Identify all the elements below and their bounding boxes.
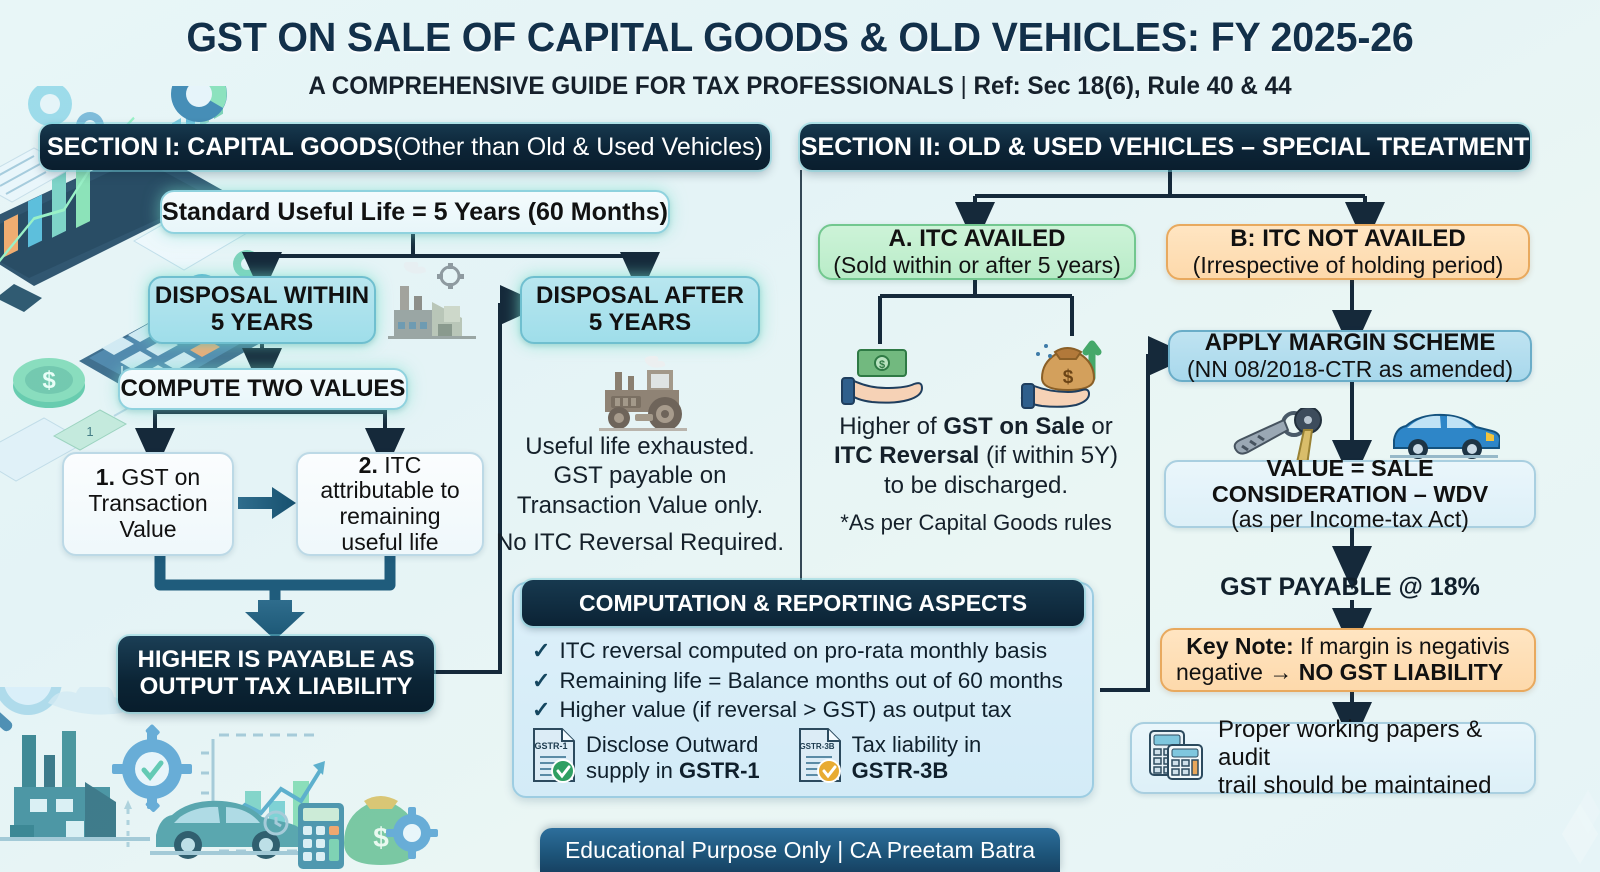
bullet-text: Higher value (if reversal > GST) as outp… — [559, 695, 1011, 724]
value-1-text: 1. GST on Transaction Value — [74, 465, 222, 542]
gstr3b-badge-text: GSTR-3B — [799, 742, 834, 751]
page-subtitle-reference: Ref: Sec 18(6), Rule 40 & 44 — [974, 72, 1292, 100]
branch-a-line2: (Sold within or after 5 years) — [833, 253, 1121, 279]
disposal-within-5-years-box: DISPOSAL WITHIN 5 YEARS — [148, 276, 376, 344]
branch-a-itc-availed-box: A. ITC AVAILED (Sold within or after 5 y… — [818, 224, 1136, 280]
gstr1-line-1: Disclose Outward — [586, 732, 760, 757]
gstr1-line-2-prefix: supply in — [586, 758, 679, 783]
blue-car-icon — [1390, 410, 1500, 460]
apply-margin-scheme-line2: (NN 08/2018-CTR as amended) — [1187, 357, 1513, 383]
branch-b-line1: B: ITC NOT AVAILED — [1230, 226, 1466, 253]
gstr-document-icon: GSTR-3B — [798, 727, 842, 788]
itc-availed-note: *As per Capital Goods rules — [826, 510, 1126, 537]
calculator-icon — [1148, 729, 1206, 788]
section-2-banner: SECTION II: OLD & USED VEHICLES – SPECIA… — [800, 124, 1530, 170]
page-subtitle-separator: | — [954, 72, 974, 100]
apply-margin-scheme-line1: APPLY MARGIN SCHEME — [1205, 330, 1496, 357]
computation-reporting-heading-text: COMPUTATION & REPORTING ASPECTS — [579, 590, 1027, 617]
key-note-text-2: negative → — [1176, 659, 1299, 685]
apply-margin-scheme-box: APPLY MARGIN SCHEME (NN 08/2018-CTR as a… — [1168, 330, 1532, 382]
itc-availed-mid: or — [1085, 413, 1113, 440]
branch-b-itc-not-availed-box: B: ITC NOT AVAILED (Irrespective of hold… — [1166, 224, 1530, 280]
car-icon — [150, 801, 310, 859]
tractor-icon — [595, 356, 691, 436]
money-bag-growth-icon: $ — [1020, 340, 1116, 410]
disposal-within-line2: 5 YEARS — [211, 310, 313, 337]
gstr1-item: GSTR-1 Disclose Outward supply in GSTR-1 — [532, 727, 760, 788]
key-note-line-1: Key Note: If margin is negativis — [1176, 634, 1520, 660]
disposal-after-line-4: No ITC Reversal Required. — [492, 528, 788, 557]
between-values-arrow — [238, 487, 296, 519]
key-note-line-2: negative → NO GST LIABILITY — [1176, 660, 1520, 686]
computation-reporting-heading: COMPUTATION & REPORTING ASPECTS — [522, 580, 1084, 626]
higher-is-payable-line1: HIGHER IS PAYABLE AS — [138, 647, 415, 674]
section-2-banner-label: SECTION II: OLD & USED VEHICLES – SPECIA… — [801, 133, 1529, 162]
list-item: ✓ Remaining life = Balance months out of… — [532, 666, 1082, 696]
disposal-after-line-3: Transaction Value only. — [492, 491, 788, 520]
audit-trail-box: Proper working papers & audit trail shou… — [1130, 722, 1536, 794]
gst-payable-rate-label: GST PAYABLE @ 18% — [1164, 572, 1536, 603]
audit-trail-line-1: Proper working papers & audit — [1218, 716, 1534, 772]
disposal-after-line1: DISPOSAL AFTER — [536, 283, 744, 310]
infographic-canvas: $ — [0, 0, 1600, 872]
disposal-after-line2: 5 YEARS — [589, 310, 691, 337]
gstr1-line-2-bold: GSTR-1 — [679, 758, 760, 783]
svg-text:$: $ — [879, 359, 885, 371]
computation-bullet-list: ✓ ITC reversal computed on pro-rata mont… — [532, 636, 1082, 725]
itc-availed-line-1: Higher of GST on Sale or — [826, 412, 1126, 441]
key-note-bold: NO GST LIABILITY — [1299, 659, 1503, 685]
key-note-box: Key Note: If margin is negativis negativ… — [1160, 628, 1536, 692]
svg-text:1: 1 — [86, 424, 93, 439]
footer-credit-bar: Educational Purpose Only | CA Preetam Ba… — [540, 828, 1060, 872]
itc-availed-line-2: ITC Reversal (if within 5Y) — [826, 441, 1126, 470]
value-formula-line1: VALUE = SALE CONSIDERATION – WDV — [1166, 455, 1534, 508]
gstr-document-icon: GSTR-1 — [532, 727, 576, 788]
footer-credit-text: Educational Purpose Only | CA Preetam Ba… — [565, 837, 1035, 864]
value-formula-line2: (as per Income-tax Act) — [1231, 507, 1469, 533]
value-2-text: 2. ITC attributable to remaining useful … — [306, 453, 474, 556]
value-2-label: ITC attributable to remaining useful lif… — [320, 452, 459, 555]
standard-useful-life-label: Standard Useful Life = 5 Years (60 Month… — [162, 198, 668, 226]
audit-trail-line-2: trail should be maintained — [1218, 772, 1534, 800]
page-subtitle-main: A COMPREHENSIVE GUIDE FOR TAX PROFESSION… — [308, 72, 953, 100]
itc-availed-line-3: to be discharged. — [826, 471, 1126, 500]
section-1-banner-strong: SECTION I: CAPITAL GOODS — [47, 133, 393, 162]
audit-trail-text: Proper working papers & audit trail shou… — [1218, 716, 1534, 799]
compute-two-values-label: COMPUTE TWO VALUES — [121, 376, 406, 403]
list-item: ✓ ITC reversal computed on pro-rata mont… — [532, 636, 1082, 666]
gstr1-label: Disclose Outward supply in GSTR-1 — [586, 732, 760, 782]
key-note-text-1: If margin is negativis — [1294, 633, 1510, 659]
value-2-itc-attributable-box: 2. ITC attributable to remaining useful … — [296, 452, 484, 556]
value-1-gst-on-transaction-value-box: 1. GST on Transaction Value — [62, 452, 234, 556]
standard-useful-life-box: Standard Useful Life = 5 Years (60 Month… — [160, 190, 670, 234]
compute-two-values-box: COMPUTE TWO VALUES — [118, 368, 408, 410]
svg-text:$: $ — [42, 367, 56, 394]
gstr1-badge-text: GSTR-1 — [534, 741, 567, 751]
gstr3b-label: Tax liability in GSTR-3B — [852, 732, 982, 782]
disposal-after-line-2: GST payable on — [492, 461, 788, 490]
check-icon: ✓ — [532, 696, 550, 725]
bullet-text: Remaining life = Balance months out of 6… — [559, 666, 1062, 695]
gstr-reporting-row: GSTR-1 Disclose Outward supply in GSTR-1 — [532, 727, 1080, 788]
list-item: ✓ Higher value (if reversal > GST) as ou… — [532, 695, 1082, 725]
check-icon: ✓ — [532, 637, 550, 666]
value-2-number: 2. — [359, 452, 378, 478]
key-note-label: Key Note: — [1186, 633, 1293, 659]
disposal-after-5-years-box: DISPOSAL AFTER 5 YEARS — [520, 276, 760, 344]
itc-availed-bold-1: GST on Sale — [943, 413, 1084, 440]
section-1-banner-light: (Other than Old & Used Vehicles) — [393, 133, 763, 162]
disposal-within-line1: DISPOSAL WITHIN — [155, 283, 369, 310]
value-formula-box: VALUE = SALE CONSIDERATION – WDV (as per… — [1164, 460, 1536, 528]
itc-availed-prefix: Higher of — [839, 413, 943, 440]
itc-availed-bold-2: ITC Reversal — [834, 442, 979, 469]
gst-payable-rate-text: GST PAYABLE @ 18% — [1220, 573, 1480, 601]
higher-is-payable-box: HIGHER IS PAYABLE AS OUTPUT TAX LIABILIT… — [118, 636, 434, 712]
page-subtitle: A COMPREHENSIVE GUIDE FOR TAX PROFESSION… — [24, 72, 1576, 101]
branch-b-line2: (Irrespective of holding period) — [1193, 253, 1504, 279]
gstr3b-line-2-bold: GSTR-3B — [852, 758, 949, 783]
calculator-icon — [298, 803, 344, 869]
svg-text:$: $ — [1063, 367, 1074, 388]
higher-is-payable-line2: OUTPUT TAX LIABILITY — [140, 674, 413, 701]
bullet-text: ITC reversal computed on pro-rata monthl… — [559, 636, 1047, 665]
section-divider — [800, 170, 802, 582]
money-bag-icon: $ — [344, 796, 418, 865]
itc-availed-explanation: Higher of GST on Sale or ITC Reversal (i… — [826, 412, 1126, 537]
value-1-number: 1. — [96, 464, 115, 490]
branch-a-line1: A. ITC AVAILED — [889, 226, 1066, 253]
disposal-after-line-1: Useful life exhausted. — [492, 432, 788, 461]
svg-text:$: $ — [373, 822, 389, 853]
decorative-industry-illustration: $ — [0, 687, 480, 872]
gstr3b-item: GSTR-3B Tax liability in GSTR-3B — [798, 727, 982, 788]
cash-in-hand-icon: $ — [840, 348, 928, 410]
itc-availed-post: (if within 5Y) — [979, 442, 1118, 469]
disposal-after-explanation: Useful life exhausted. GST payable on Tr… — [492, 432, 788, 557]
computation-reporting-panel: COMPUTATION & REPORTING ASPECTS ✓ ITC re… — [512, 582, 1094, 798]
check-icon: ✓ — [532, 667, 550, 696]
factory-icon — [388, 262, 480, 344]
magnifier-icon — [0, 687, 62, 733]
section-1-banner: SECTION I: CAPITAL GOODS (Other than Old… — [40, 124, 770, 170]
page-title: GST ON SALE OF CAPITAL GOODS & OLD VEHIC… — [32, 14, 1568, 61]
gstr3b-line-1: Tax liability in — [852, 732, 982, 757]
